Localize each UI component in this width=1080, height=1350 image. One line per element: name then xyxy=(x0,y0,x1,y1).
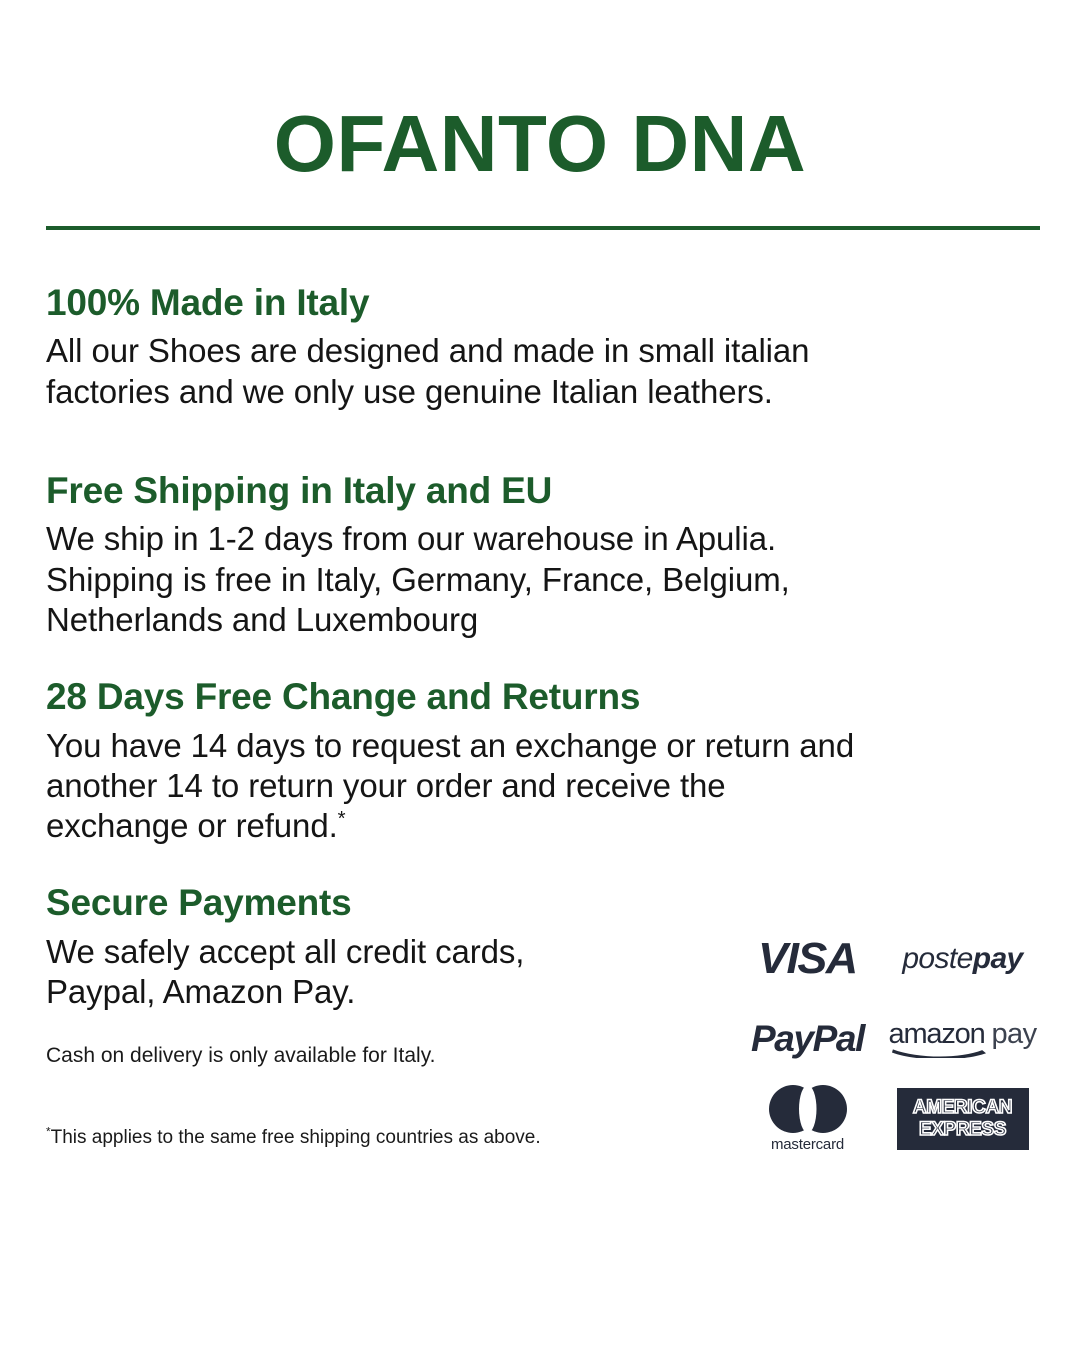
section-heading: Secure Payments xyxy=(46,882,706,923)
spacer xyxy=(46,640,1036,676)
spacer xyxy=(46,412,1036,470)
body-line: Netherlands and Luxembourg xyxy=(46,600,1036,640)
section-body: We safely accept all credit cards, Paypa… xyxy=(46,932,706,1013)
body-line: factories and we only use genuine Italia… xyxy=(46,372,1036,412)
section-free-shipping: Free Shipping in Italy and EU We ship in… xyxy=(46,470,1036,640)
body-line-with-asterisk: exchange or refund.* xyxy=(46,806,1036,846)
section-body: You have 14 days to request an exchange … xyxy=(46,726,1036,847)
body-line: We ship in 1-2 days from our warehouse i… xyxy=(46,519,1036,559)
amex-line-two: EXPRESS xyxy=(919,1120,1006,1141)
body-line: another 14 to return your order and rece… xyxy=(46,766,1036,806)
amazon-text: amazon xyxy=(889,1018,985,1050)
payment-logos: VISA postepay PayPal amazon pay xyxy=(735,918,1035,1160)
postepay-logo: postepay xyxy=(890,918,1035,1000)
paypal-wordmark: PayPal xyxy=(751,1018,864,1060)
visa-logo: VISA xyxy=(735,918,880,1000)
section-heading: 28 Days Free Change and Returns xyxy=(46,676,1036,717)
spacer xyxy=(46,846,1036,882)
secure-payments-text: Secure Payments We safely accept all cre… xyxy=(46,882,706,1012)
postepay-bold-part: pay xyxy=(973,942,1023,975)
section-made-in-italy: 100% Made in Italy All our Shoes are des… xyxy=(46,282,1036,412)
mastercard-label: mastercard xyxy=(771,1136,844,1153)
section-heading: Free Shipping in Italy and EU xyxy=(46,470,1036,511)
section-body: All our Shoes are designed and made in s… xyxy=(46,331,1036,412)
section-change-and-returns: 28 Days Free Change and Returns You have… xyxy=(46,676,1036,846)
body-line: We safely accept all credit cards, xyxy=(46,932,706,972)
title-divider xyxy=(46,226,1040,230)
section-heading: 100% Made in Italy xyxy=(46,282,1036,323)
amex-badge: AMERICAN EXPRESS xyxy=(897,1088,1029,1150)
american-express-logo: AMERICAN EXPRESS xyxy=(890,1078,1035,1160)
body-line: Shipping is free in Italy, Germany, Fran… xyxy=(46,560,1036,600)
footnote-text: This applies to the same free shipping c… xyxy=(51,1127,541,1148)
body-line: You have 14 days to request an exchange … xyxy=(46,726,1036,766)
mastercard-overlap xyxy=(799,1085,817,1133)
mastercard-circles-icon xyxy=(769,1085,847,1133)
ofanto-dna-info-card: OFANTO DNA 100% Made in Italy All our Sh… xyxy=(0,0,1080,1350)
amazon-brand-word: amazon xyxy=(889,1020,985,1058)
postepay-light-part: poste xyxy=(902,942,972,975)
section-body: We ship in 1-2 days from our warehouse i… xyxy=(46,519,1036,640)
visa-wordmark: VISA xyxy=(758,934,857,984)
amazon-pay-wordmark: amazon pay xyxy=(889,1020,1037,1058)
body-line: Paypal, Amazon Pay. xyxy=(46,972,706,1012)
body-line-text: exchange or refund. xyxy=(46,807,338,844)
body-line: All our Shoes are designed and made in s… xyxy=(46,331,1036,371)
mastercard-logo: mastercard xyxy=(735,1078,880,1160)
paypal-logo: PayPal xyxy=(735,1000,880,1078)
mastercard-mark: mastercard xyxy=(769,1085,847,1153)
amazon-smile-icon xyxy=(891,1047,987,1058)
page-title: OFANTO DNA xyxy=(0,104,1080,184)
amazon-pay-logo: amazon pay xyxy=(890,1000,1035,1078)
asterisk-marker: * xyxy=(338,807,346,830)
postepay-wordmark: postepay xyxy=(902,942,1022,976)
amazon-pay-word: pay xyxy=(992,1020,1037,1058)
amex-line-one: AMERICAN xyxy=(913,1098,1012,1119)
